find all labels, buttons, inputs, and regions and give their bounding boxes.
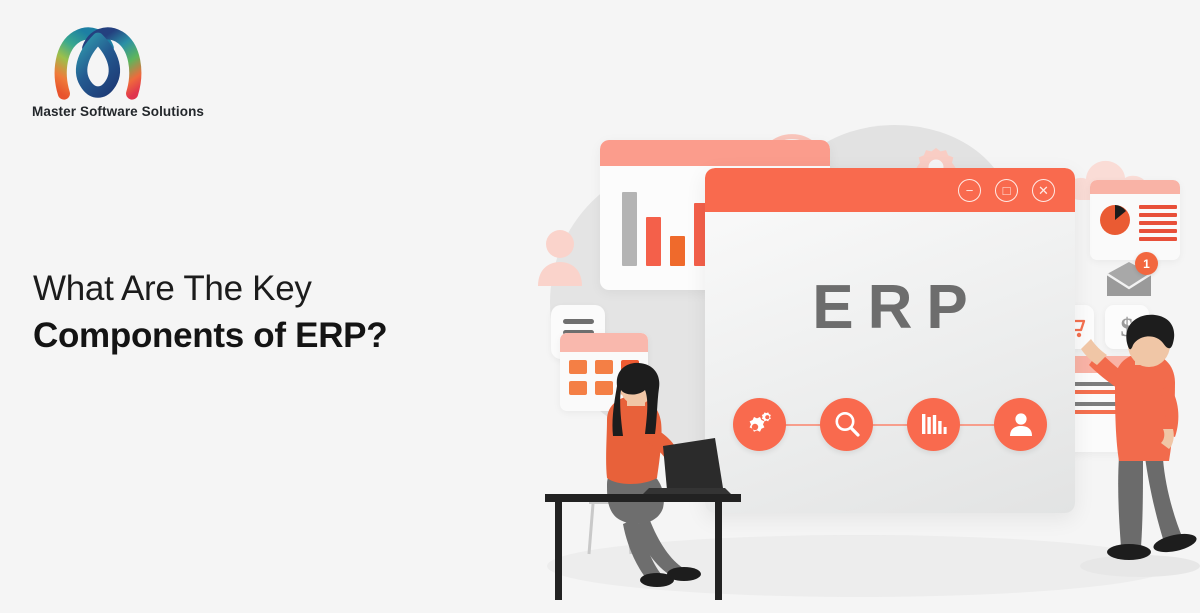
bars-glyph xyxy=(921,412,947,436)
maximize-icon[interactable]: □ xyxy=(995,179,1018,202)
page-title: What Are The Key Components of ERP? xyxy=(33,265,503,359)
calendar-header xyxy=(560,333,648,352)
erp-feature-chain xyxy=(733,396,1047,452)
chart-bar xyxy=(646,217,661,266)
minimize-icon[interactable]: − xyxy=(958,179,981,202)
man-pointing xyxy=(1075,325,1200,575)
report-line xyxy=(1139,213,1177,217)
chart-bar xyxy=(622,192,637,266)
bar-chart-icon[interactable] xyxy=(907,398,960,451)
headline-line-1: What Are The Key xyxy=(33,265,503,312)
report-line xyxy=(1139,221,1177,225)
background-window-titlebar xyxy=(600,140,830,166)
search-magnifier-icon[interactable] xyxy=(820,398,873,451)
notification-badge: 1 xyxy=(1135,252,1158,275)
banner-canvas: Master Software Solutions What Are The K… xyxy=(0,0,1200,609)
report-line xyxy=(1139,205,1177,209)
erp-illustration: 1 $ xyxy=(505,40,1200,609)
report-card-header xyxy=(1090,180,1180,194)
person-glyph xyxy=(1008,411,1034,437)
brand-name: Master Software Solutions xyxy=(30,104,260,119)
infinity-loop-logo xyxy=(48,22,148,100)
report-line xyxy=(1139,229,1177,233)
erp-window-titlebar: − □ ✕ xyxy=(705,168,1075,212)
chart-bar xyxy=(670,236,685,266)
pie-report-card xyxy=(1090,180,1180,260)
woman-at-laptop xyxy=(545,368,755,613)
headline-line-2: Components of ERP? xyxy=(33,312,503,359)
avatar-icon xyxy=(537,228,583,286)
report-line xyxy=(1139,237,1177,241)
close-icon[interactable]: ✕ xyxy=(1032,179,1055,202)
erp-label: ERP xyxy=(705,272,1075,343)
magnifier-glyph xyxy=(833,410,861,438)
report-card-lines xyxy=(1139,203,1177,241)
erp-window: − □ ✕ ERP xyxy=(705,168,1075,513)
brand-block[interactable]: Master Software Solutions xyxy=(30,22,260,119)
menu-bar-1 xyxy=(563,319,594,324)
user-person-icon[interactable] xyxy=(994,398,1047,451)
pie-chart-icon xyxy=(1098,203,1132,237)
